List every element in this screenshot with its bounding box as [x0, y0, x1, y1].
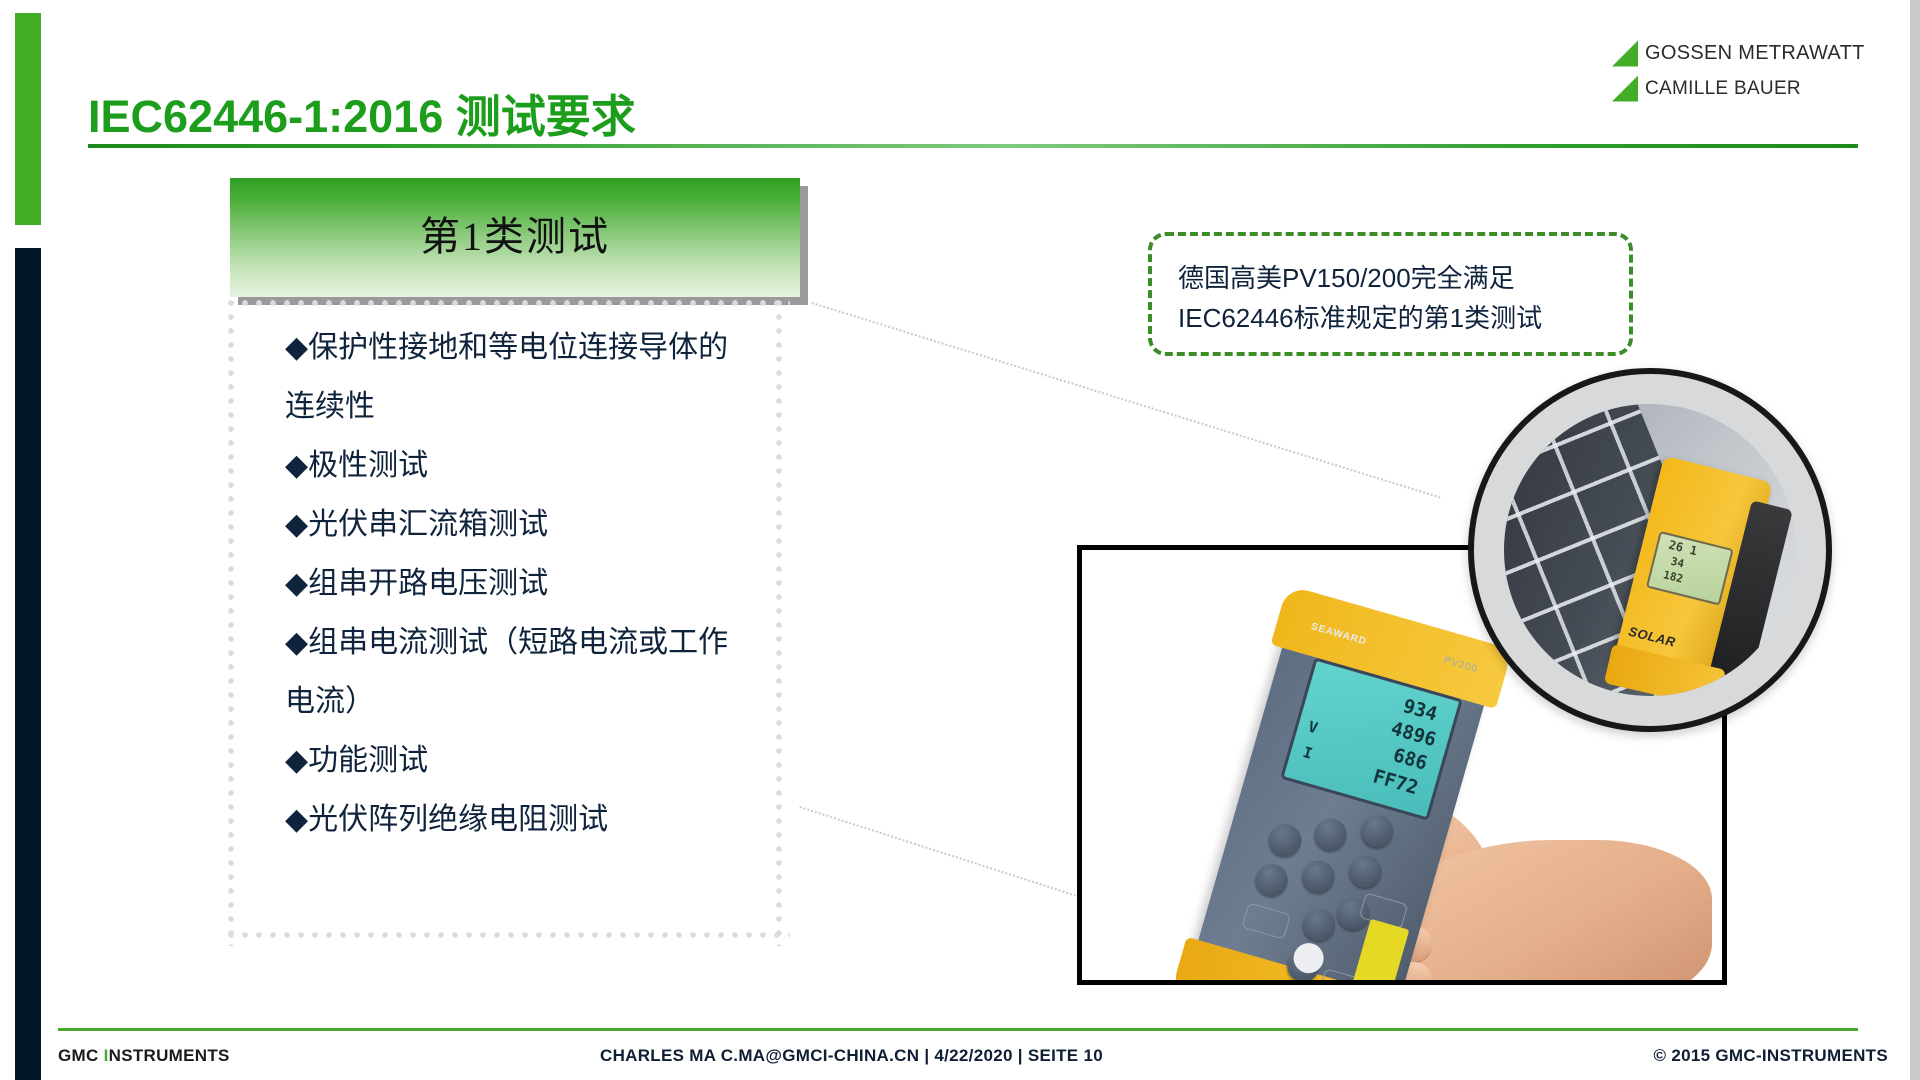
title-underline — [88, 144, 1858, 148]
list-item: ◆光伏串汇流箱测试 — [285, 495, 755, 554]
triangle-icon — [1612, 76, 1638, 102]
device-key-label-frame — [1241, 902, 1290, 939]
brand-logo-group: GOSSEN METRAWATT CAMILLE BAUER — [1612, 36, 1862, 106]
category-panel: 第1类测试 — [230, 178, 800, 297]
brand-label-gossen-metrawatt: GOSSEN METRAWATT — [1645, 42, 1865, 65]
left-accent-bar-green — [15, 13, 41, 225]
solar-brand-label: SOLAR — [1627, 624, 1677, 650]
callout-line-2: IEC62446标准规定的第1类测试 — [1178, 298, 1542, 335]
list-item: ◆极性测试 — [285, 436, 755, 495]
brand-row-camille-bauer: CAMILLE BAUER — [1612, 71, 1862, 106]
photo-inset-solar-meter: 26 1 34 182 SOLAR — [1468, 368, 1832, 732]
right-edge-strip — [1910, 0, 1920, 1080]
inset-lcd-row-2: 34 — [1669, 555, 1685, 571]
solar-meter-lcd: 26 1 34 182 — [1646, 531, 1734, 606]
device-key — [1299, 857, 1339, 897]
lcd-label-current: I — [1301, 743, 1315, 763]
footer-logo: GMC INSTRUMENTS — [58, 1046, 230, 1066]
bullet-list: ◆保护性接地和等电位连接导体的连续性 ◆极性测试 ◆光伏串汇流箱测试 ◆组串开路… — [285, 318, 755, 849]
lcd-label-voltage: V — [1306, 717, 1320, 737]
callout-box: 德国高美PV150/200完全满足 IEC62446标准规定的第1类测试 — [1148, 232, 1633, 356]
list-item: ◆组串开路电压测试 — [285, 554, 755, 613]
inset-lcd-row-3: 182 — [1662, 568, 1684, 585]
left-accent-bar-navy — [15, 248, 41, 1080]
triangle-icon — [1612, 41, 1638, 67]
list-item: ◆功能测试 — [285, 731, 755, 790]
device-key — [1252, 860, 1292, 900]
callout-line-1: 德国高美PV150/200完全满足 — [1178, 258, 1515, 295]
list-item: ◆组串电流测试（短路电流或工作电流） — [285, 613, 755, 731]
page-title: IEC62446-1:2016 测试要求 — [88, 80, 636, 145]
device-key — [1299, 905, 1339, 945]
brand-label-camille-bauer: CAMILLE BAUER — [1645, 78, 1801, 100]
device-key — [1358, 811, 1398, 851]
inset-photo-content: 26 1 34 182 SOLAR — [1504, 404, 1796, 696]
footer-logo-prefix: GMC — [58, 1046, 104, 1065]
device-key — [1346, 852, 1386, 892]
list-item: ◆保护性接地和等电位连接导体的连续性 — [285, 318, 755, 436]
footer-copyright: © 2015 GMC-INSTRUMENTS — [1654, 1046, 1889, 1066]
category-panel-label: 第1类测试 — [230, 204, 800, 262]
footer-center-text: CHARLES MA C.MA@GMCI-CHINA.CN | 4/22/202… — [600, 1046, 1103, 1066]
brand-row-gossen-metrawatt: GOSSEN METRAWATT — [1612, 36, 1862, 71]
device-key — [1265, 820, 1305, 860]
connector-line-to-main-photo — [799, 806, 1076, 897]
footer-rule — [58, 1028, 1858, 1031]
footer-logo-suffix: NSTRUMENTS — [109, 1046, 230, 1065]
device-key — [1311, 815, 1351, 855]
list-item: ◆光伏阵列绝缘电阻测试 — [285, 790, 755, 849]
